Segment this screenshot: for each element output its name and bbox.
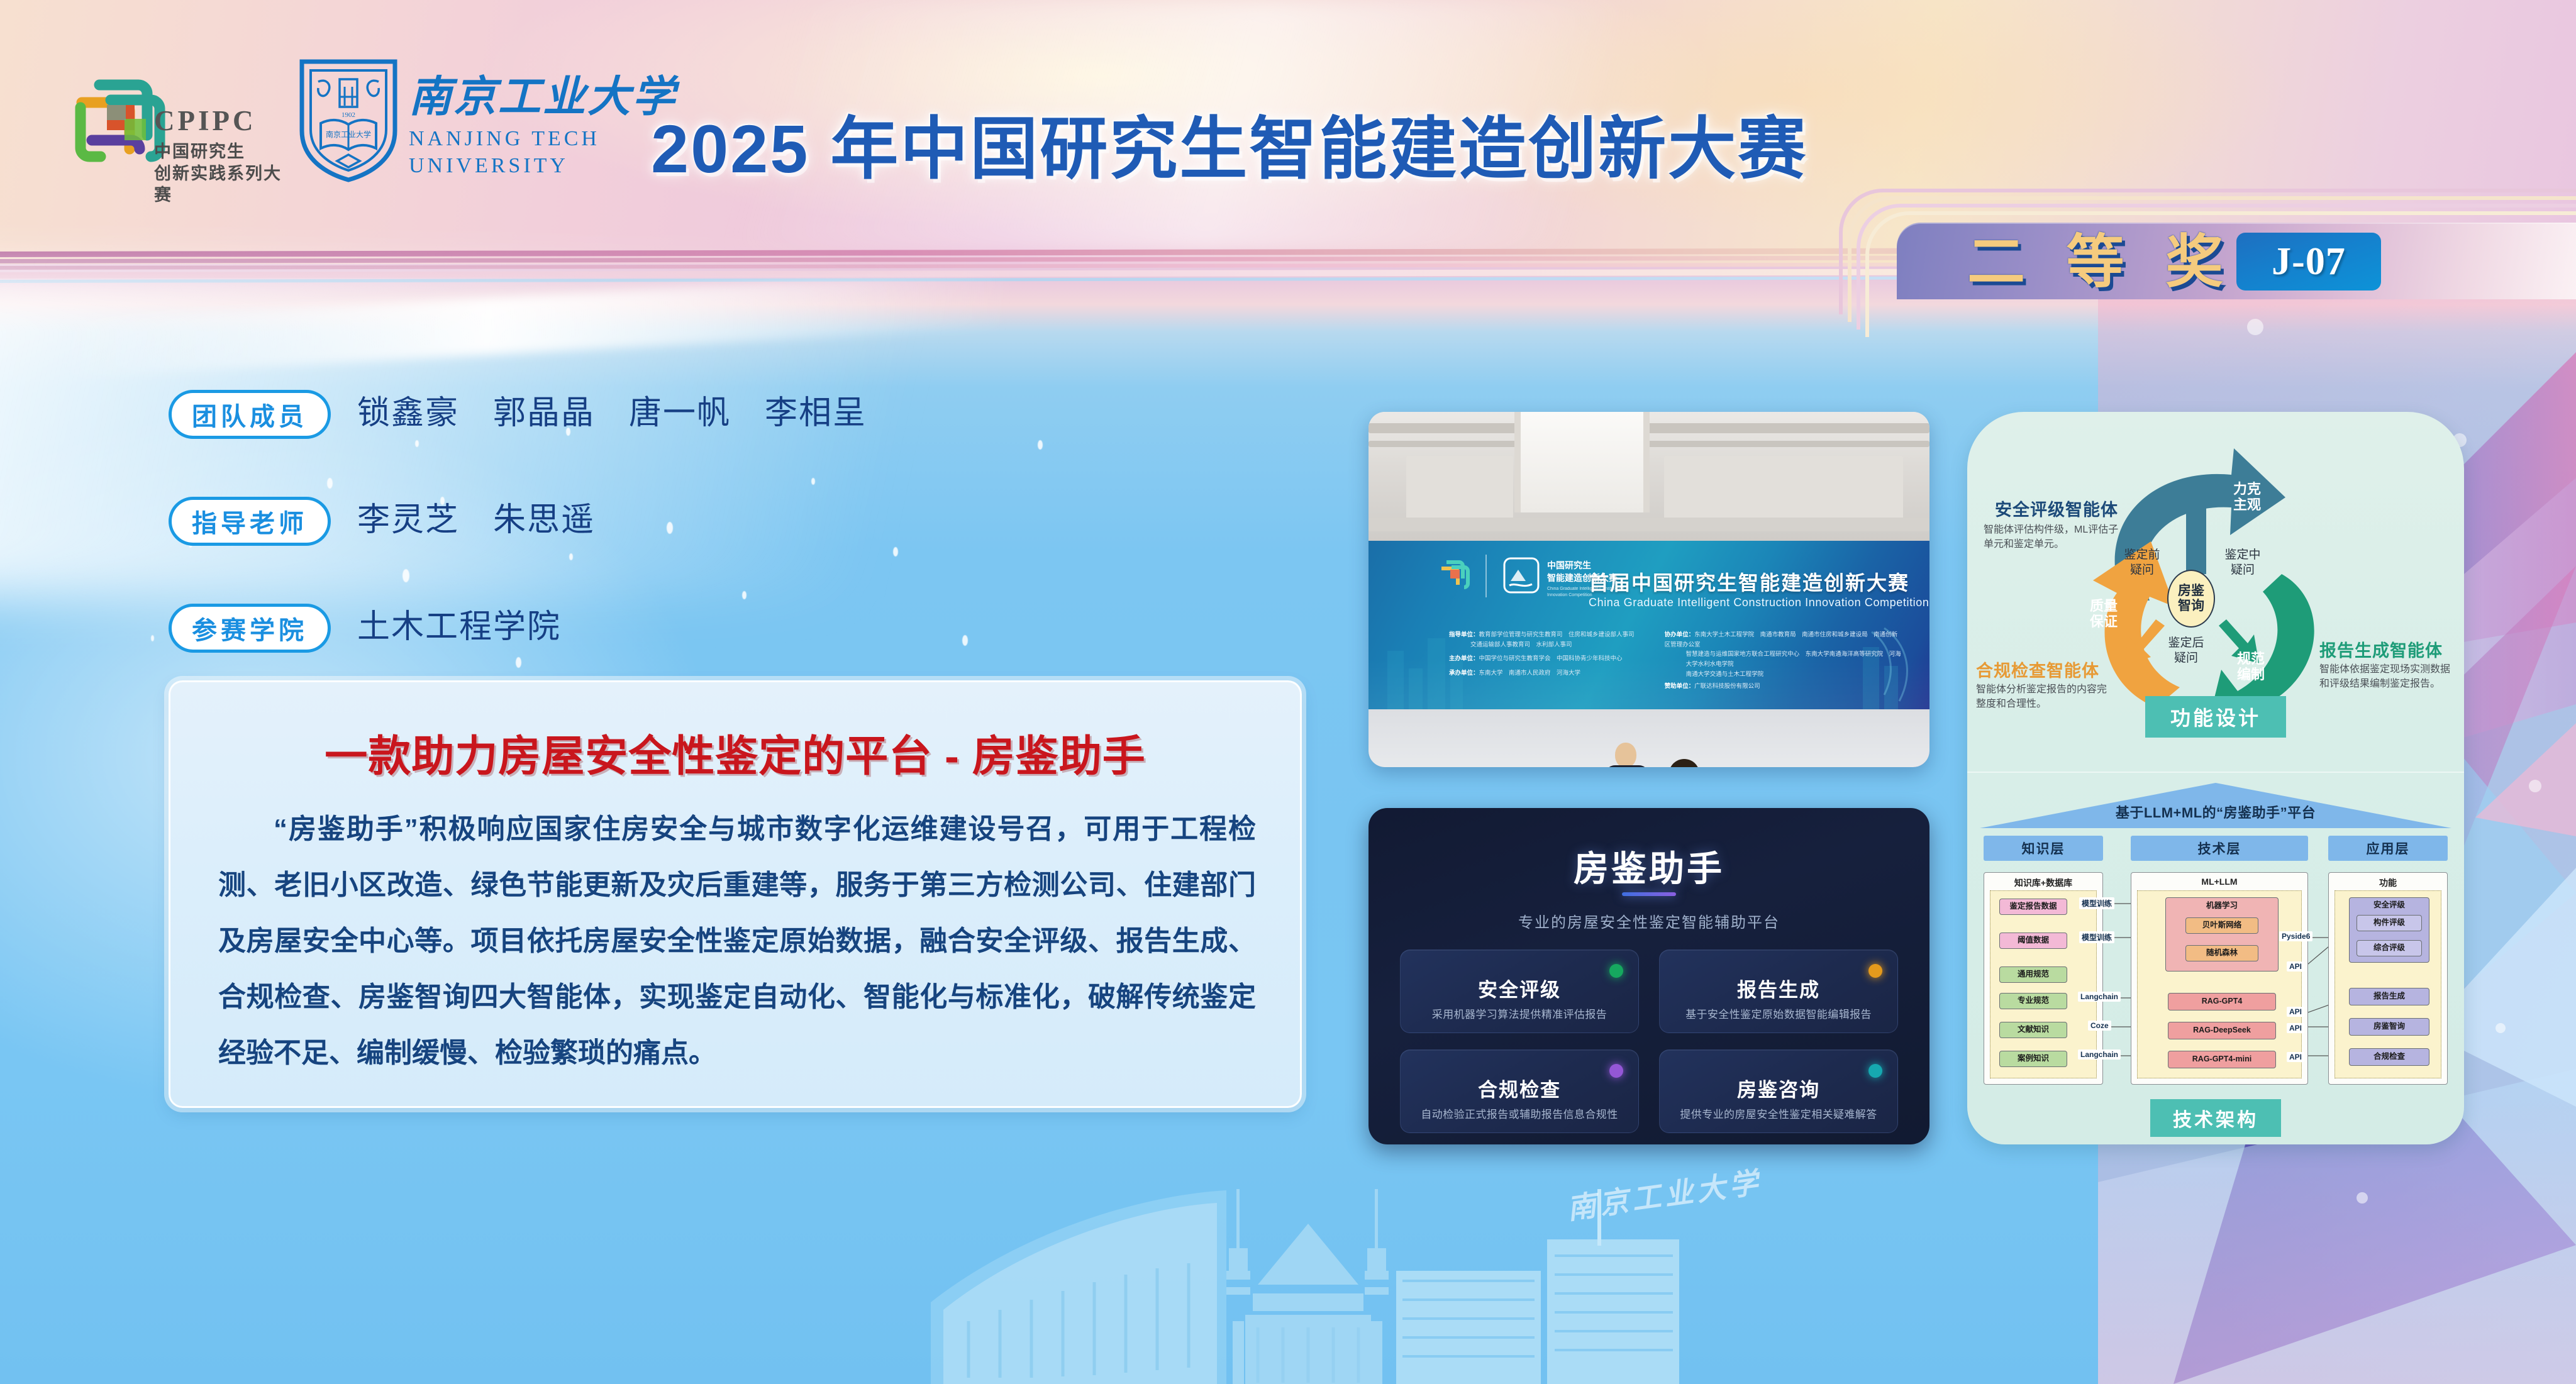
photo-banner-title: 首届中国研究生智能建造创新大赛: [1589, 567, 1909, 596]
poster-root: 南京工业大学: [0, 0, 2576, 1384]
svg-text:南京工业大学: 南京工业大学: [326, 130, 371, 139]
layer-title-technology: ML+LLM: [2131, 877, 2307, 887]
function-design-chip: 功能设计: [2145, 696, 2286, 738]
tech-box-random-forest: 随机森林: [2185, 945, 2258, 961]
diagrams-panel: 安全评级智能体 智能体评估构件级，ML评估子单元和鉴定单元。 报告生成智能体 智…: [1967, 412, 2464, 1144]
edge-label-api-2: API: [2287, 1007, 2304, 1017]
cpipc-chinese-name: 中国研究生 创新实践系列大赛: [154, 141, 299, 206]
tech-box-rag-gpt4-mini: RAG-GPT4-mini: [2168, 1051, 2276, 1068]
architecture-roof-label: 基于LLM+ML的“房鉴助手”平台: [1967, 802, 2464, 822]
edge-label-model-training-2: 模型训练: [2079, 931, 2114, 943]
photo-ceiling: [1368, 412, 1929, 541]
project-description-text: “房鉴助手”积极响应国家住房安全与城市数字化运维建设号召，可用于工程检测、老旧小…: [218, 802, 1256, 1081]
edge-label-api-1: API: [2287, 961, 2304, 972]
info-row-members: 团队成员 锁鑫豪 郭晶晶 唐一帆 李相呈: [169, 390, 1269, 462]
layer-column-application: 功能 安全评级 构件评级 综合评级 报告生成 房鉴智询 合规检查: [2328, 872, 2448, 1085]
agent-label-compliance-check: 合规检查智能体: [1976, 657, 2099, 682]
kb-box-general-standards: 通用规范: [1999, 966, 2067, 983]
function-design-diagram: 安全评级智能体 智能体评估构件级，ML评估子单元和鉴定单元。 报告生成智能体 智…: [1967, 412, 2464, 772]
tech-box-bayesian-network: 贝叶斯网络: [2185, 917, 2258, 934]
edge-label-api-4: API: [2287, 1052, 2304, 1062]
app-box-component-rating: 构件评级: [2357, 915, 2422, 931]
feature-desc: 提供专业的房屋安全性鉴定相关疑难解答: [1660, 1105, 1897, 1121]
step-label-pre-appraisal: 鉴定前疑问: [2111, 548, 2173, 578]
njtech-english-name: NANJING TECH UNIVERSITY: [409, 126, 677, 179]
layer-head-knowledge: 知识层: [1984, 836, 2103, 861]
feature-tile-grid: 安全评级 采用机器学习算法提供精准评估报告 报告生成 基于安全性鉴定原始数据智能…: [1400, 949, 1898, 1133]
kb-box-report-data: 鉴定报告数据: [1999, 899, 2067, 915]
info-value-members: 锁鑫豪 郭晶晶 唐一帆 李相呈: [357, 389, 867, 439]
edge-label-langchain-2: Langchain: [2078, 1049, 2121, 1060]
feature-tile-safety-rating[interactable]: 安全评级 采用机器学习算法提供精准评估报告: [1400, 949, 1639, 1033]
kb-box-threshold-data: 阈值数据: [1999, 933, 2067, 949]
photo-backdrop-banner: 中国研究生智能建造创新大赛 China Graduate Intelligent…: [1368, 541, 1929, 726]
photo-banner-subtitle: China Graduate Intelligent Construction …: [1589, 596, 1929, 609]
njtech-shield-icon: 1902 南京工业大学: [296, 57, 401, 182]
info-value-advisors: 李灵芝 朱思遥: [357, 495, 595, 546]
step-label-post-appraisal: 鉴定后疑问: [2155, 636, 2218, 666]
arrow-label-quality-assurance: 质量保证: [2075, 598, 2132, 630]
info-label-college: 参赛学院: [169, 604, 331, 653]
feature-name: 安全评级: [1401, 974, 1638, 1002]
svg-text:1902: 1902: [341, 111, 355, 119]
award-plate: 二 等 奖 J-07: [1897, 223, 2576, 299]
tech-architecture-chip: 技术架构: [2150, 1099, 2281, 1137]
award-team-code: J-07: [2236, 233, 2381, 291]
layer-head-application: 应用层: [2328, 836, 2448, 861]
app-box-consultation: 房鉴智询: [2349, 1018, 2429, 1036]
team-info-list: 团队成员 锁鑫豪 郭晶晶 唐一帆 李相呈 指导老师 李灵芝 朱思遥 参赛学院 土…: [169, 390, 1269, 711]
page-title: 2025 年中国研究生智能建造创新大赛: [651, 94, 1807, 192]
agent-desc-safety-rating: 智能体评估构件级，ML评估子单元和鉴定单元。: [1984, 523, 2128, 551]
project-title: 一款助力房屋安全性鉴定的平台 - 房鉴助手: [170, 721, 1300, 783]
njtech-chinese-name: 南京工业大学: [409, 75, 677, 118]
feature-desc: 采用机器学习算法提供精准评估报告: [1401, 1005, 1638, 1021]
product-tagline: 专业的房屋安全性鉴定智能辅助平台: [1368, 910, 1929, 932]
edge-label-coze: Coze: [2088, 1021, 2111, 1031]
product-name: 房鉴助手: [1368, 841, 1929, 892]
photo-person-male: [1615, 743, 1636, 767]
photo-floor: [1368, 709, 1929, 767]
info-value-college: 土木工程学院: [357, 602, 561, 653]
tech-architecture-diagram: 基于LLM+ML的“房鉴助手”平台 知识层 技术层 应用层: [1967, 773, 2464, 1144]
agent-label-safety-rating: 安全评级智能体: [1995, 496, 2118, 521]
info-label-advisors: 指导老师: [169, 497, 331, 546]
photo-credits: 指导单位：教育部学位管理与研究生教育司 住房和城乡建设部人事司 交通运输部人事教…: [1449, 630, 1908, 692]
step-label-during-appraisal: 鉴定中疑问: [2211, 548, 2274, 578]
cpipc-wordmark: CPIPC 中国研究生 创新实践系列大赛: [154, 107, 299, 206]
feature-desc: 自动检验正式报告或辅助报告信息合规性: [1401, 1105, 1638, 1121]
product-divider: [1622, 892, 1676, 896]
project-description-panel: 一款助力房屋安全性鉴定的平台 - 房鉴助手 “房鉴助手”积极响应国家住房安全与城…: [169, 680, 1302, 1108]
layer-title-knowledge: 知识库+数据库: [1984, 877, 2102, 889]
arrow-label-objectivity: 力克主观: [2219, 481, 2275, 513]
info-label-members: 团队成员: [169, 390, 331, 439]
app-box-report-generation: 报告生成: [2349, 988, 2429, 1005]
edge-label-model-training-1: 模型训练: [2079, 897, 2114, 909]
info-row-advisors: 指导老师 李灵芝 朱思遥: [169, 497, 1269, 569]
kb-box-cases: 案例知识: [1999, 1051, 2067, 1067]
tech-box-rag-deepseek: RAG-DeepSeek: [2168, 1022, 2276, 1039]
edge-label-api-3: API: [2287, 1023, 2304, 1033]
product-overview-card: 房鉴助手 专业的房屋安全性鉴定智能辅助平台 安全评级 采用机器学习算法提供精准评…: [1368, 808, 1929, 1144]
cycle-center-node: 房鉴智询: [2167, 570, 2215, 628]
feature-name: 合规检查: [1401, 1074, 1638, 1102]
layer-head-technology: 技术层: [2131, 836, 2308, 861]
award-level-label: 二 等 奖: [1967, 225, 2236, 299]
cpipc-abbreviation: CPIPC: [154, 107, 299, 135]
feature-name: 房鉴咨询: [1660, 1074, 1897, 1102]
photo-person-male-body: [1605, 765, 1649, 767]
kb-box-professional-standards: 专业规范: [1999, 993, 2067, 1009]
njtech-wordmark: 南京工业大学 NANJING TECH UNIVERSITY: [409, 75, 677, 179]
agent-desc-report-generation: 智能体依据鉴定现场实测数据和评级结果编制鉴定报告。: [2319, 662, 2454, 691]
agent-label-report-generation: 报告生成智能体: [2319, 637, 2443, 662]
team-photo-card: 中国研究生智能建造创新大赛 China Graduate Intelligent…: [1368, 412, 1929, 767]
award-banner: 二 等 奖 J-07: [1828, 190, 2576, 300]
feature-name: 报告生成: [1660, 974, 1897, 1002]
kb-box-literature: 文献知识: [1999, 1022, 2067, 1038]
layer-inner-technology: 机器学习 贝叶斯网络 随机森林 RAG-GPT4 RAG-DeepSeek RA…: [2137, 890, 2302, 1078]
agent-desc-compliance-check: 智能体分析鉴定报告的内容完整度和合理性。: [1976, 682, 2111, 711]
feature-desc: 基于安全性鉴定原始数据智能编辑报告: [1660, 1005, 1897, 1021]
info-row-college: 参赛学院 土木工程学院: [169, 604, 1269, 676]
app-box-compliance-check: 合规检查: [2349, 1048, 2429, 1066]
tech-box-rag-gpt4: RAG-GPT4: [2168, 993, 2276, 1010]
feature-tile-consultation[interactable]: 房鉴咨询 提供专业的房屋安全性鉴定相关疑难解答: [1659, 1049, 1898, 1133]
layer-inner-application: 安全评级 构件评级 综合评级 报告生成 房鉴智询 合规检查: [2334, 890, 2441, 1078]
app-box-overall-rating: 综合评级: [2357, 940, 2422, 956]
layer-column-technology: ML+LLM 机器学习 贝叶斯网络 随机森林 RAG-GPT4 RAG-Deep…: [2131, 872, 2308, 1085]
feature-tile-report-generation[interactable]: 报告生成 基于安全性鉴定原始数据智能编辑报告: [1659, 949, 1898, 1033]
arrow-label-standard-drafting: 规范编制: [2223, 651, 2279, 683]
edge-label-pyside6: Pyside6: [2279, 931, 2312, 941]
layer-title-application: 功能: [2329, 877, 2447, 889]
feature-tile-compliance-check[interactable]: 合规检查 自动检验正式报告或辅助报告信息合规性: [1400, 1049, 1639, 1133]
edge-label-langchain-1: Langchain: [2078, 992, 2121, 1002]
